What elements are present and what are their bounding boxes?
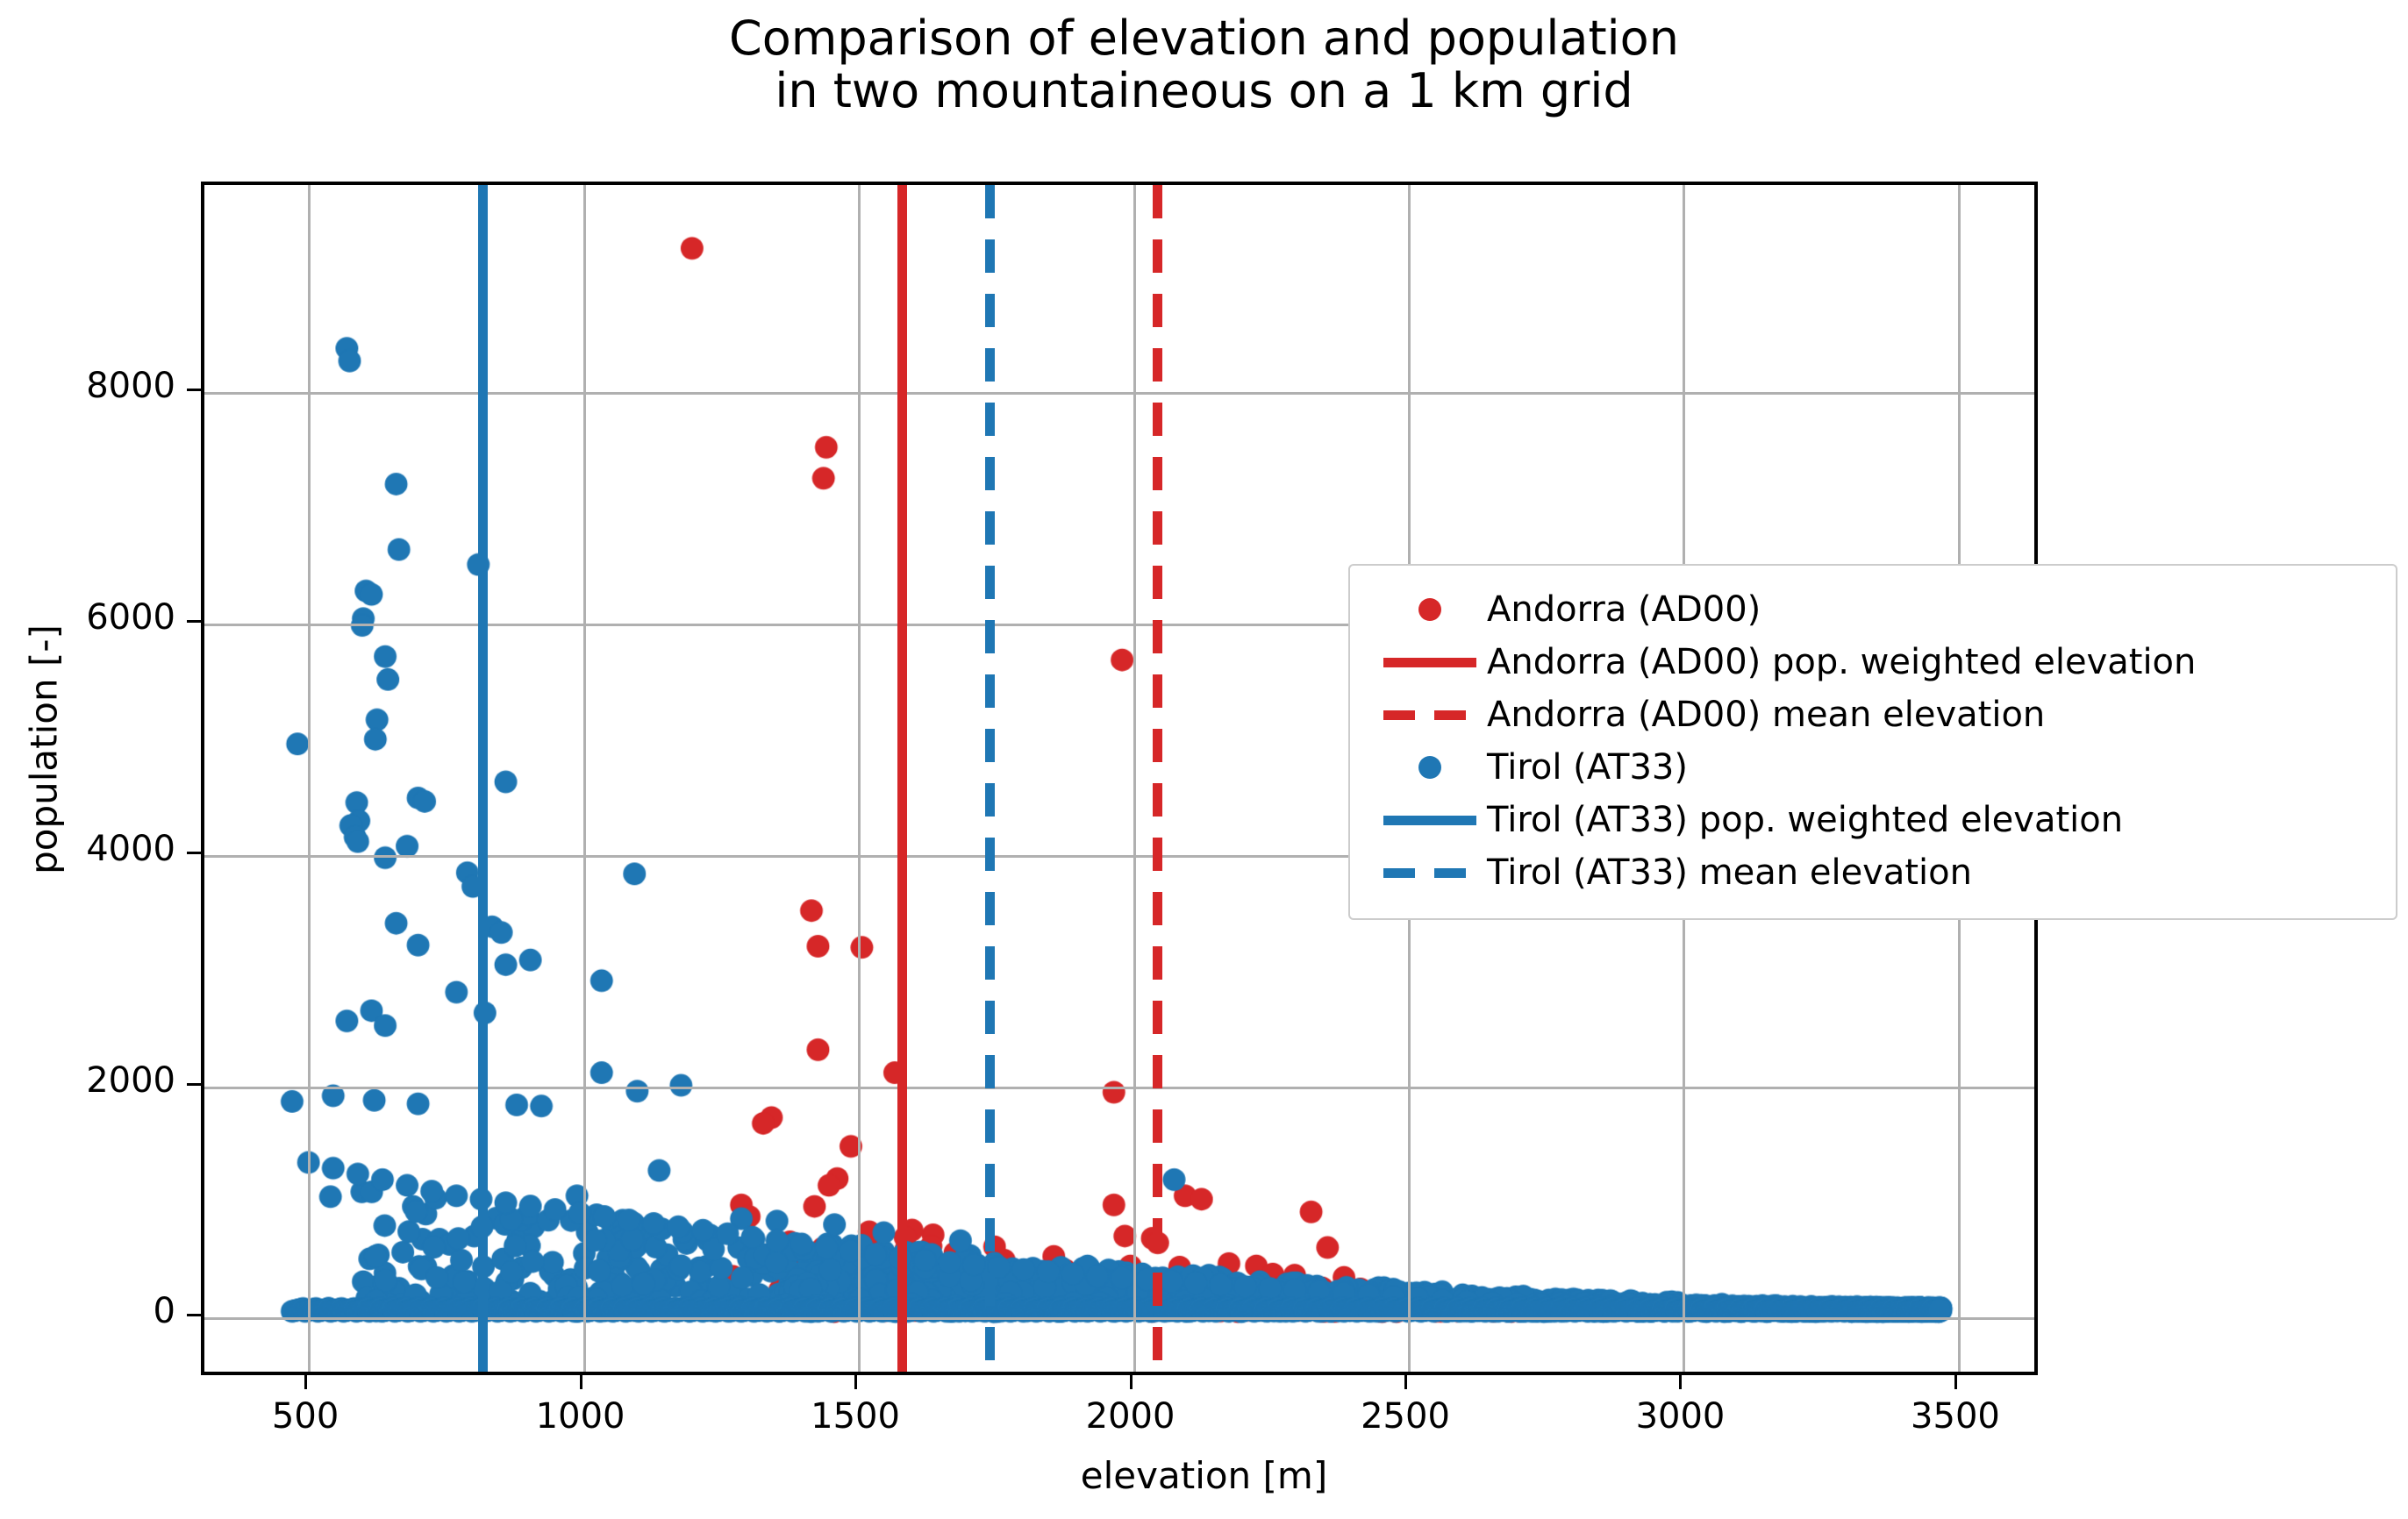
legend-marker-icon <box>1373 741 1487 794</box>
y-tick-label: 2000 <box>0 1060 175 1101</box>
legend-dashed-line-icon <box>1373 688 1487 741</box>
legend-marker-icon <box>1373 583 1487 636</box>
legend-andorra-mean[interactable]: Andorra (AD00) mean elevation <box>1373 688 2373 741</box>
legend-label: Tirol (AT33) <box>1487 747 1688 788</box>
x-tick-label: 1500 <box>759 1396 952 1437</box>
figure-canvas: Comparison of elevation and population i… <box>0 0 2408 1519</box>
x-tick-mark <box>1679 1375 1682 1389</box>
gridline-vertical <box>858 185 861 1372</box>
x-tick-label: 3500 <box>1859 1396 2052 1437</box>
legend-label: Tirol (AT33) pop. weighted elevation <box>1487 800 2123 840</box>
vline-andorra-ad00-mean-elevation <box>1153 185 1162 1372</box>
x-tick-mark <box>1130 1375 1133 1389</box>
legend-label: Andorra (AD00) mean elevation <box>1487 695 2045 735</box>
legend-tirol-popweighted[interactable]: Tirol (AT33) pop. weighted elevation <box>1373 794 2373 846</box>
x-tick-mark <box>304 1375 307 1389</box>
y-tick-label: 8000 <box>0 366 175 406</box>
gridline-vertical <box>308 185 311 1372</box>
vline-andorra-ad00-pop-weighted-elevation <box>897 185 907 1372</box>
x-tick-mark <box>854 1375 857 1389</box>
legend-solid-line-icon <box>1373 794 1487 846</box>
gridline-vertical <box>1133 185 1136 1372</box>
legend-solid-line-icon <box>1373 636 1487 688</box>
x-tick-label: 1000 <box>484 1396 677 1437</box>
x-tick-label: 2500 <box>1309 1396 1502 1437</box>
vline-tirol-at33-mean-elevation <box>985 185 995 1372</box>
legend-andorra-popweighted[interactable]: Andorra (AD00) pop. weighted elevation <box>1373 636 2373 688</box>
y-tick-label: 0 <box>0 1291 175 1331</box>
legend-andorra-points[interactable]: Andorra (AD00) <box>1373 583 2373 636</box>
legend-dashed-line-icon <box>1373 846 1487 899</box>
chart-title: Comparison of elevation and population i… <box>0 12 2408 118</box>
legend-label: Tirol (AT33) mean elevation <box>1487 852 1972 893</box>
y-axis-label: population [-] <box>23 443 66 1057</box>
x-tick-mark <box>580 1375 582 1389</box>
x-tick-label: 500 <box>209 1396 402 1437</box>
y-tick-mark <box>187 852 201 854</box>
y-tick-mark <box>187 1083 201 1086</box>
x-tick-label: 3000 <box>1583 1396 1776 1437</box>
y-tick-mark <box>187 389 201 391</box>
legend-label: Andorra (AD00) <box>1487 589 1761 630</box>
legend-label: Andorra (AD00) pop. weighted elevation <box>1487 642 2196 682</box>
x-tick-mark <box>1954 1375 1957 1389</box>
chart-legend: Andorra (AD00)Andorra (AD00) pop. weight… <box>1348 564 2397 920</box>
y-tick-mark <box>187 1314 201 1316</box>
x-tick-label: 2000 <box>1034 1396 1227 1437</box>
y-tick-mark <box>187 620 201 623</box>
legend-tirol-points[interactable]: Tirol (AT33) <box>1373 741 2373 794</box>
legend-tirol-mean[interactable]: Tirol (AT33) mean elevation <box>1373 846 2373 899</box>
vline-tirol-at33-pop-weighted-elevation <box>478 185 488 1372</box>
x-axis-label: elevation [m] <box>0 1454 2408 1497</box>
x-tick-mark <box>1404 1375 1407 1389</box>
gridline-vertical <box>583 185 586 1372</box>
